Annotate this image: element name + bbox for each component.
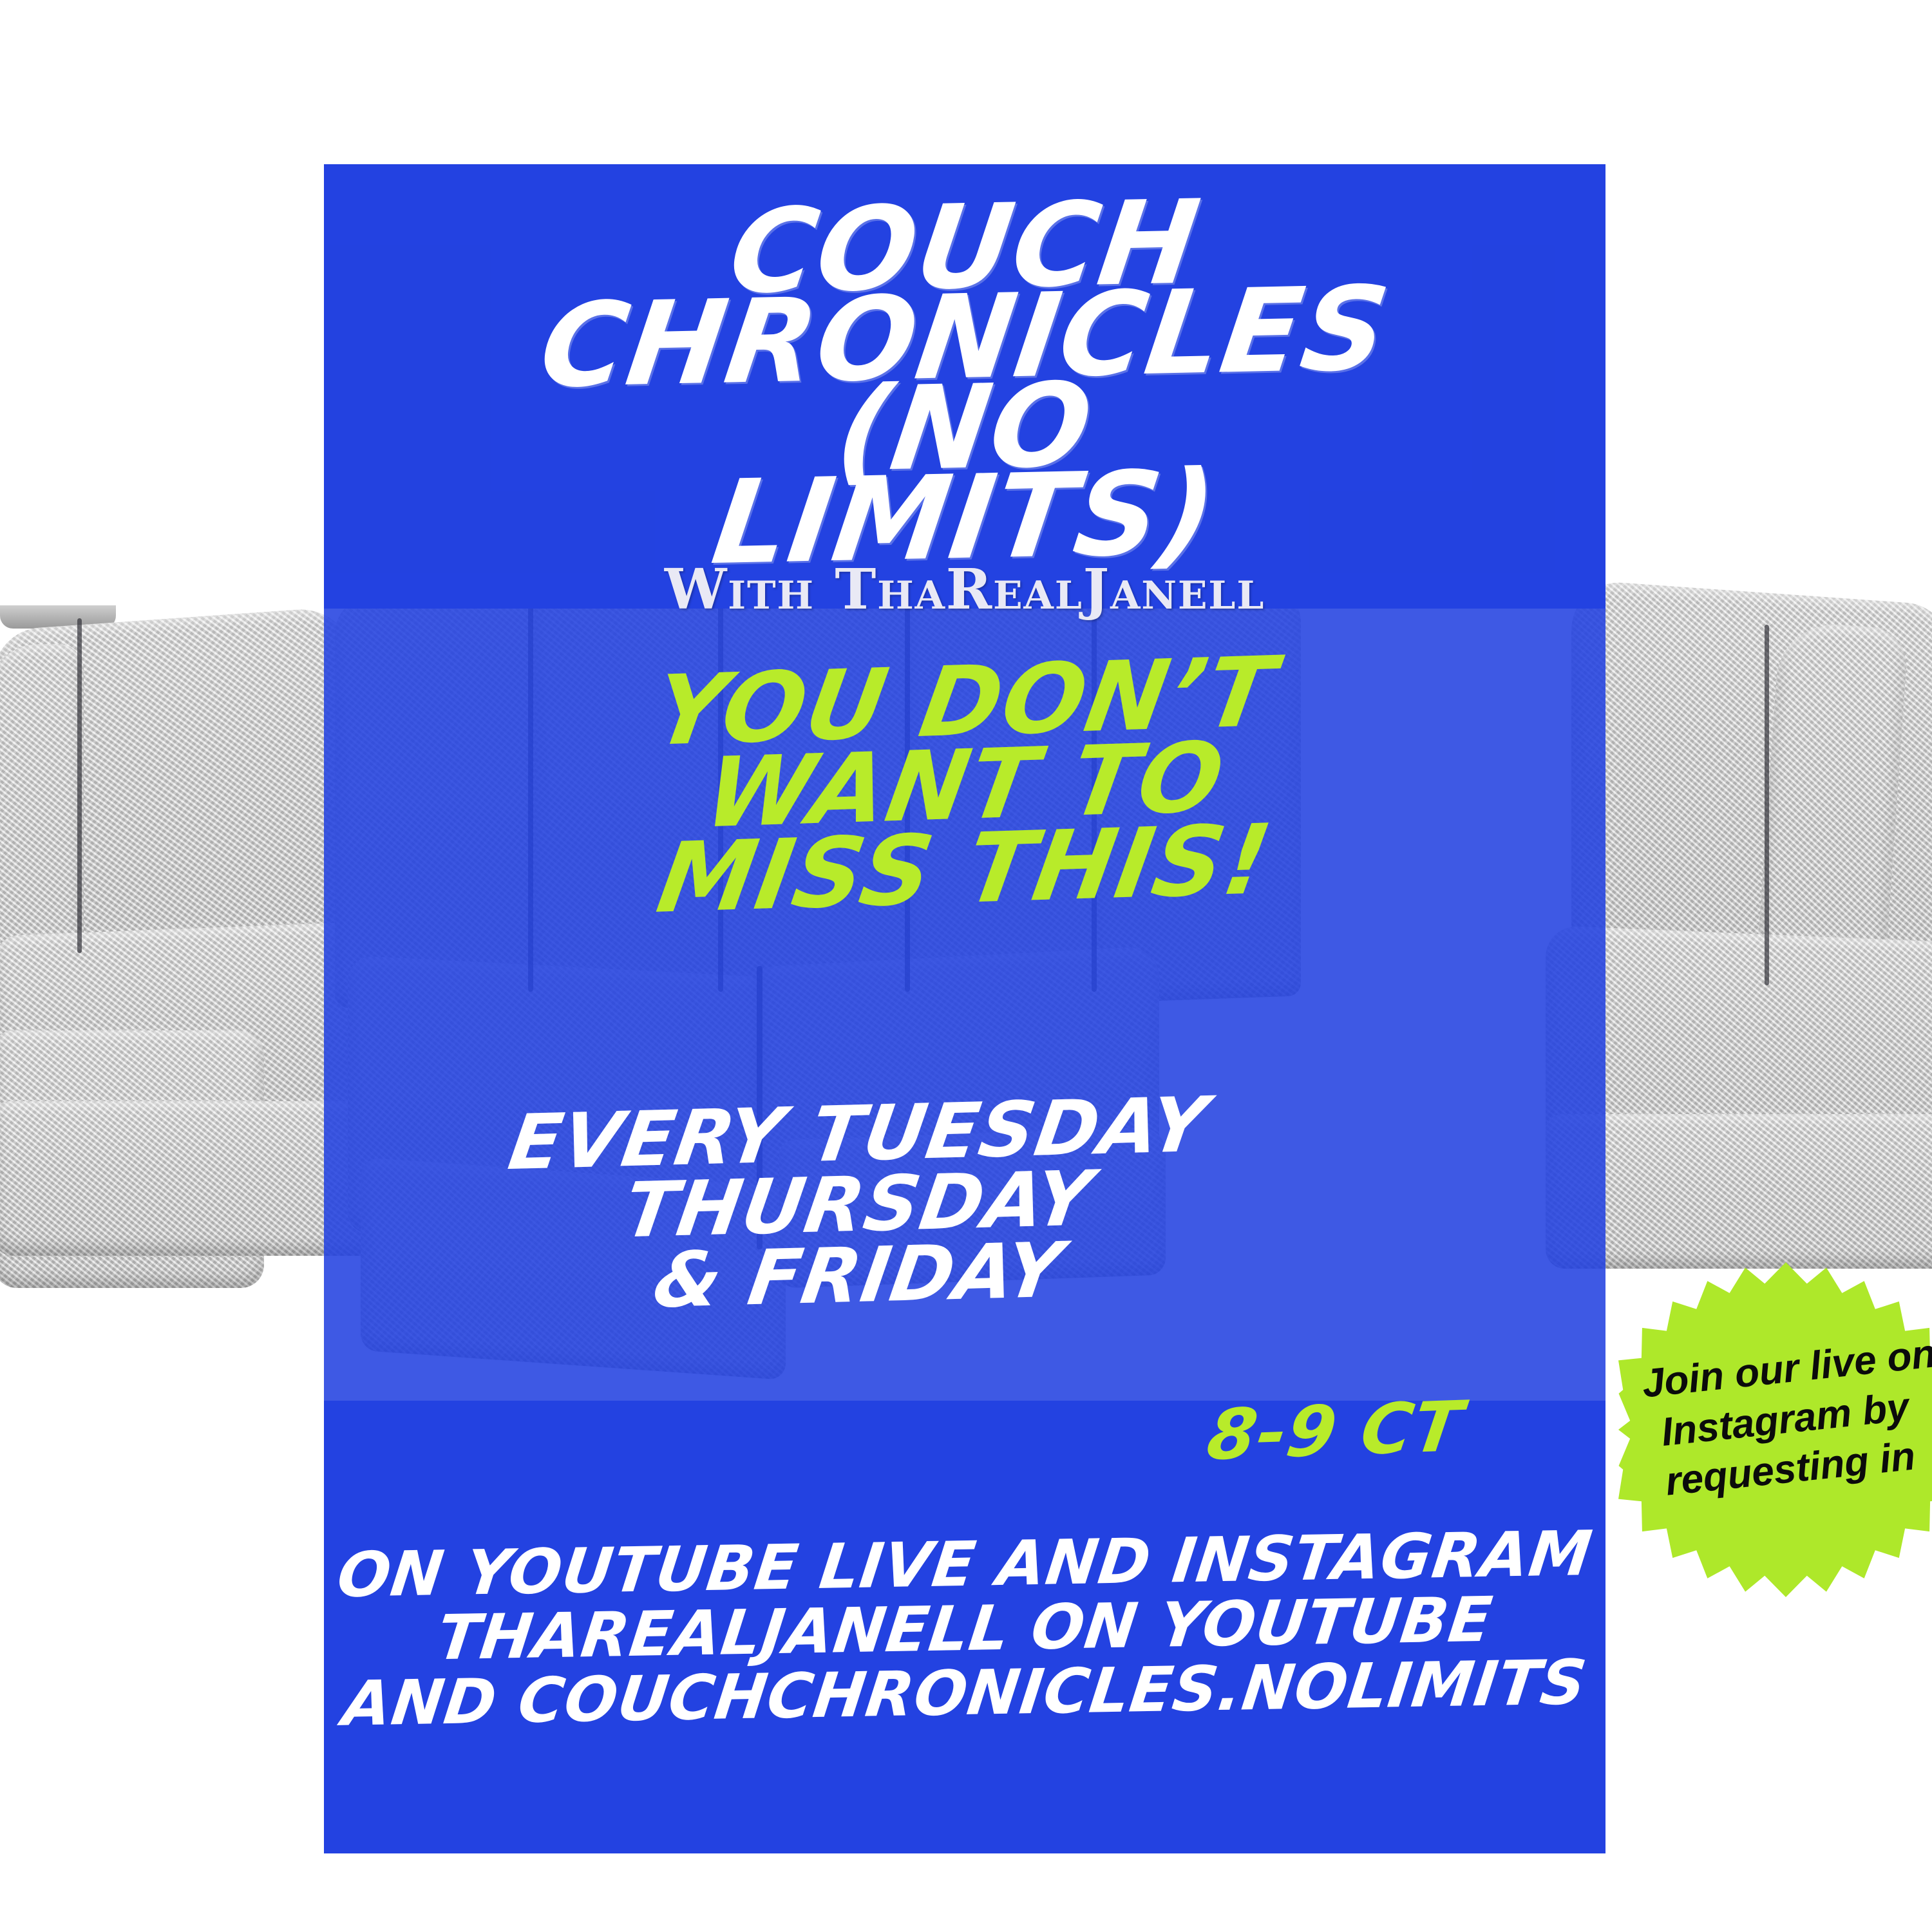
couch-seam: [77, 618, 82, 953]
badge-text: Join our live on Instagram by requesting…: [1640, 1331, 1931, 1508]
broadcast-time: 8-9 CT: [1122, 1384, 1548, 1479]
promotional-flyer: COUCH CHRONICLES (NO LIMITS) With ThaRea…: [0, 0, 1932, 1932]
couch-seam: [1765, 625, 1769, 985]
instagram-live-badge[interactable]: Join our live on Instagram by requesting…: [1618, 1262, 1932, 1597]
host-subtitle: With ThaRealJanell: [324, 557, 1605, 622]
poster-content: COUCH CHRONICLES (NO LIMITS) With ThaRea…: [324, 164, 1605, 1853]
